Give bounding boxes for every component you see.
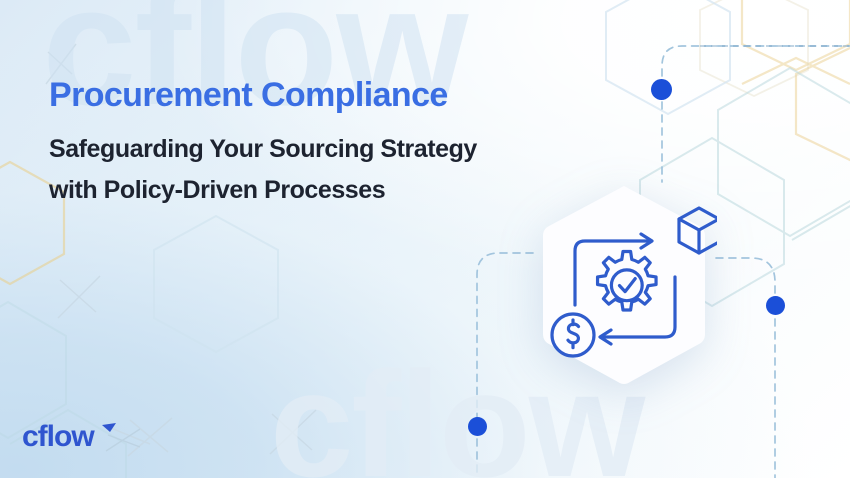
connector-node-bottom xyxy=(468,417,487,436)
hexagon-outline-group-right xyxy=(742,0,850,160)
page-title: Procurement Compliance xyxy=(49,74,609,116)
connector-node-right xyxy=(766,296,785,315)
subtitle-line-2: with Policy-Driven Processes xyxy=(49,170,609,211)
banner-canvas: cflow cflow Procurement Compliance Safeg… xyxy=(0,0,850,478)
hexagon-outline-group-right-2 xyxy=(700,0,808,96)
logo-sparkle-icon xyxy=(106,429,140,451)
subtitle-line-1: Safeguarding Your Sourcing Strategy xyxy=(49,129,609,170)
hexagon-outline-group-mid xyxy=(154,216,278,352)
connector-right xyxy=(716,258,775,306)
connector-node-top xyxy=(651,79,672,100)
cflow-wordmark: cflow xyxy=(22,420,95,453)
headline-block: Procurement Compliance Safeguarding Your… xyxy=(49,74,609,211)
cflow-flag-icon xyxy=(102,423,116,432)
hero-icon-card xyxy=(531,183,717,387)
cflow-logo[interactable]: cflow xyxy=(22,415,140,457)
connector-top-right xyxy=(662,46,850,89)
sparkle-cross-2 xyxy=(58,276,100,318)
